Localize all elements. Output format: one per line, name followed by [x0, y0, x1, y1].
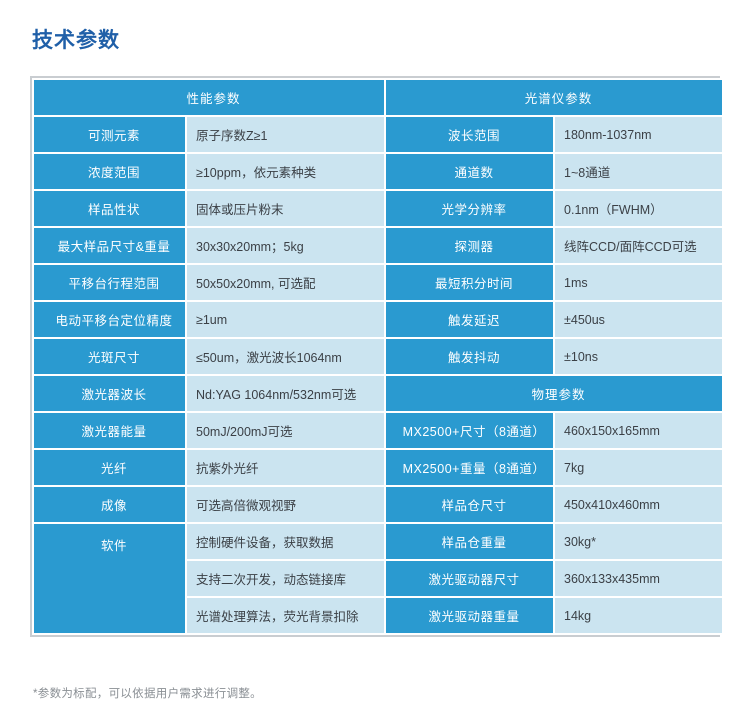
- row-value-channel-count: 1~8通道: [555, 154, 722, 189]
- row-label-stage-positioning-accuracy: 电动平移台定位精度: [34, 302, 185, 337]
- row-label-measurable-elements: 可测元素: [34, 117, 185, 152]
- row-value-software-line-3: 光谱处理算法，荧光背景扣除: [187, 598, 384, 633]
- row-value-mx2500-dimensions: 460x150x165mm: [555, 413, 722, 448]
- row-label-trigger-jitter: 触发抖动: [386, 339, 553, 374]
- row-value-sample-form: 固体或压片粉末: [187, 191, 384, 226]
- row-value-max-sample-size-weight: 30x30x20mm；5kg: [187, 228, 384, 263]
- specifications-table: 性能参数 光谱仪参数 可测元素 原子序数Z≥1 波长范围 180nm-1037n…: [32, 78, 724, 635]
- specifications-table-container: 性能参数 光谱仪参数 可测元素 原子序数Z≥1 波长范围 180nm-1037n…: [30, 76, 720, 637]
- row-label-wavelength-range: 波长范围: [386, 117, 553, 152]
- row-value-trigger-delay: ±450us: [555, 302, 722, 337]
- subheader-physical-parameters: 物理参数: [386, 376, 722, 411]
- table-row: 软件 控制硬件设备，获取数据 样品仓重量 30kg*: [34, 524, 722, 559]
- header-spectrometer-parameters: 光谱仪参数: [386, 80, 722, 115]
- row-value-laser-driver-weight: 14kg: [555, 598, 722, 633]
- table-row: 激光器能量 50mJ/200mJ可选 MX2500+尺寸（8通道） 460x15…: [34, 413, 722, 448]
- table-row: 浓度范围 ≥10ppm，依元素种类 通道数 1~8通道: [34, 154, 722, 189]
- table-row: 最大样品尺寸&重量 30x30x20mm；5kg 探测器 线阵CCD/面阵CCD…: [34, 228, 722, 263]
- row-label-channel-count: 通道数: [386, 154, 553, 189]
- row-label-imaging: 成像: [34, 487, 185, 522]
- row-label-optical-resolution: 光学分辨率: [386, 191, 553, 226]
- row-label-stage-travel-range: 平移台行程范围: [34, 265, 185, 300]
- page-title: 技术参数: [32, 27, 120, 55]
- row-label-laser-driver-size: 激光驱动器尺寸: [386, 561, 553, 596]
- row-label-concentration-range: 浓度范围: [34, 154, 185, 189]
- row-label-mx2500-dimensions: MX2500+尺寸（8通道）: [386, 413, 553, 448]
- row-value-mx2500-weight: 7kg: [555, 450, 722, 485]
- row-value-wavelength-range: 180nm-1037nm: [555, 117, 722, 152]
- row-label-trigger-delay: 触发延迟: [386, 302, 553, 337]
- table-row: 成像 可选高倍微观视野 样品仓尺寸 450x410x460mm: [34, 487, 722, 522]
- header-performance-parameters: 性能参数: [34, 80, 384, 115]
- table-row: 激光器波长 Nd:YAG 1064nm/532nm可选 物理参数: [34, 376, 722, 411]
- table-row: 光斑尺寸 ≤50um，激光波长1064nm 触发抖动 ±10ns: [34, 339, 722, 374]
- row-value-spot-size: ≤50um，激光波长1064nm: [187, 339, 384, 374]
- row-value-stage-travel-range: 50x50x20mm, 可选配: [187, 265, 384, 300]
- table-row: 电动平移台定位精度 ≥1um 触发延迟 ±450us: [34, 302, 722, 337]
- table-footnote: *参数为标配，可以依据用户需求进行调整。: [33, 685, 262, 701]
- row-label-laser-wavelength: 激光器波长: [34, 376, 185, 411]
- row-value-optical-fiber: 抗紫外光纤: [187, 450, 384, 485]
- row-label-software: 软件: [34, 524, 185, 633]
- row-value-measurable-elements: 原子序数Z≥1: [187, 117, 384, 152]
- row-label-mx2500-weight: MX2500+重量（8通道）: [386, 450, 553, 485]
- row-label-spot-size: 光斑尺寸: [34, 339, 185, 374]
- row-value-stage-positioning-accuracy: ≥1um: [187, 302, 384, 337]
- row-value-trigger-jitter: ±10ns: [555, 339, 722, 374]
- row-value-software-line-2: 支持二次开发，动态链接库: [187, 561, 384, 596]
- row-label-laser-driver-weight: 激光驱动器重量: [386, 598, 553, 633]
- row-label-max-sample-size-weight: 最大样品尺寸&重量: [34, 228, 185, 263]
- table-row: 可测元素 原子序数Z≥1 波长范围 180nm-1037nm: [34, 117, 722, 152]
- row-value-detector: 线阵CCD/面阵CCD可选: [555, 228, 722, 263]
- row-label-sample-chamber-size: 样品仓尺寸: [386, 487, 553, 522]
- row-value-optical-resolution: 0.1nm（FWHM）: [555, 191, 722, 226]
- row-value-imaging: 可选高倍微观视野: [187, 487, 384, 522]
- row-label-optical-fiber: 光纤: [34, 450, 185, 485]
- row-value-laser-driver-size: 360x133x435mm: [555, 561, 722, 596]
- row-value-sample-chamber-size: 450x410x460mm: [555, 487, 722, 522]
- table-row: 平移台行程范围 50x50x20mm, 可选配 最短积分时间 1ms: [34, 265, 722, 300]
- row-value-min-integration-time: 1ms: [555, 265, 722, 300]
- row-label-detector: 探测器: [386, 228, 553, 263]
- row-value-concentration-range: ≥10ppm，依元素种类: [187, 154, 384, 189]
- table-row: 光纤 抗紫外光纤 MX2500+重量（8通道） 7kg: [34, 450, 722, 485]
- row-label-min-integration-time: 最短积分时间: [386, 265, 553, 300]
- row-value-software-line-1: 控制硬件设备，获取数据: [187, 524, 384, 559]
- row-value-sample-chamber-weight: 30kg*: [555, 524, 722, 559]
- table-row: 样品性状 固体或压片粉末 光学分辨率 0.1nm（FWHM）: [34, 191, 722, 226]
- table-header-row: 性能参数 光谱仪参数: [34, 80, 722, 115]
- row-value-laser-energy: 50mJ/200mJ可选: [187, 413, 384, 448]
- row-label-laser-energy: 激光器能量: [34, 413, 185, 448]
- row-value-laser-wavelength: Nd:YAG 1064nm/532nm可选: [187, 376, 384, 411]
- row-label-sample-form: 样品性状: [34, 191, 185, 226]
- row-label-sample-chamber-weight: 样品仓重量: [386, 524, 553, 559]
